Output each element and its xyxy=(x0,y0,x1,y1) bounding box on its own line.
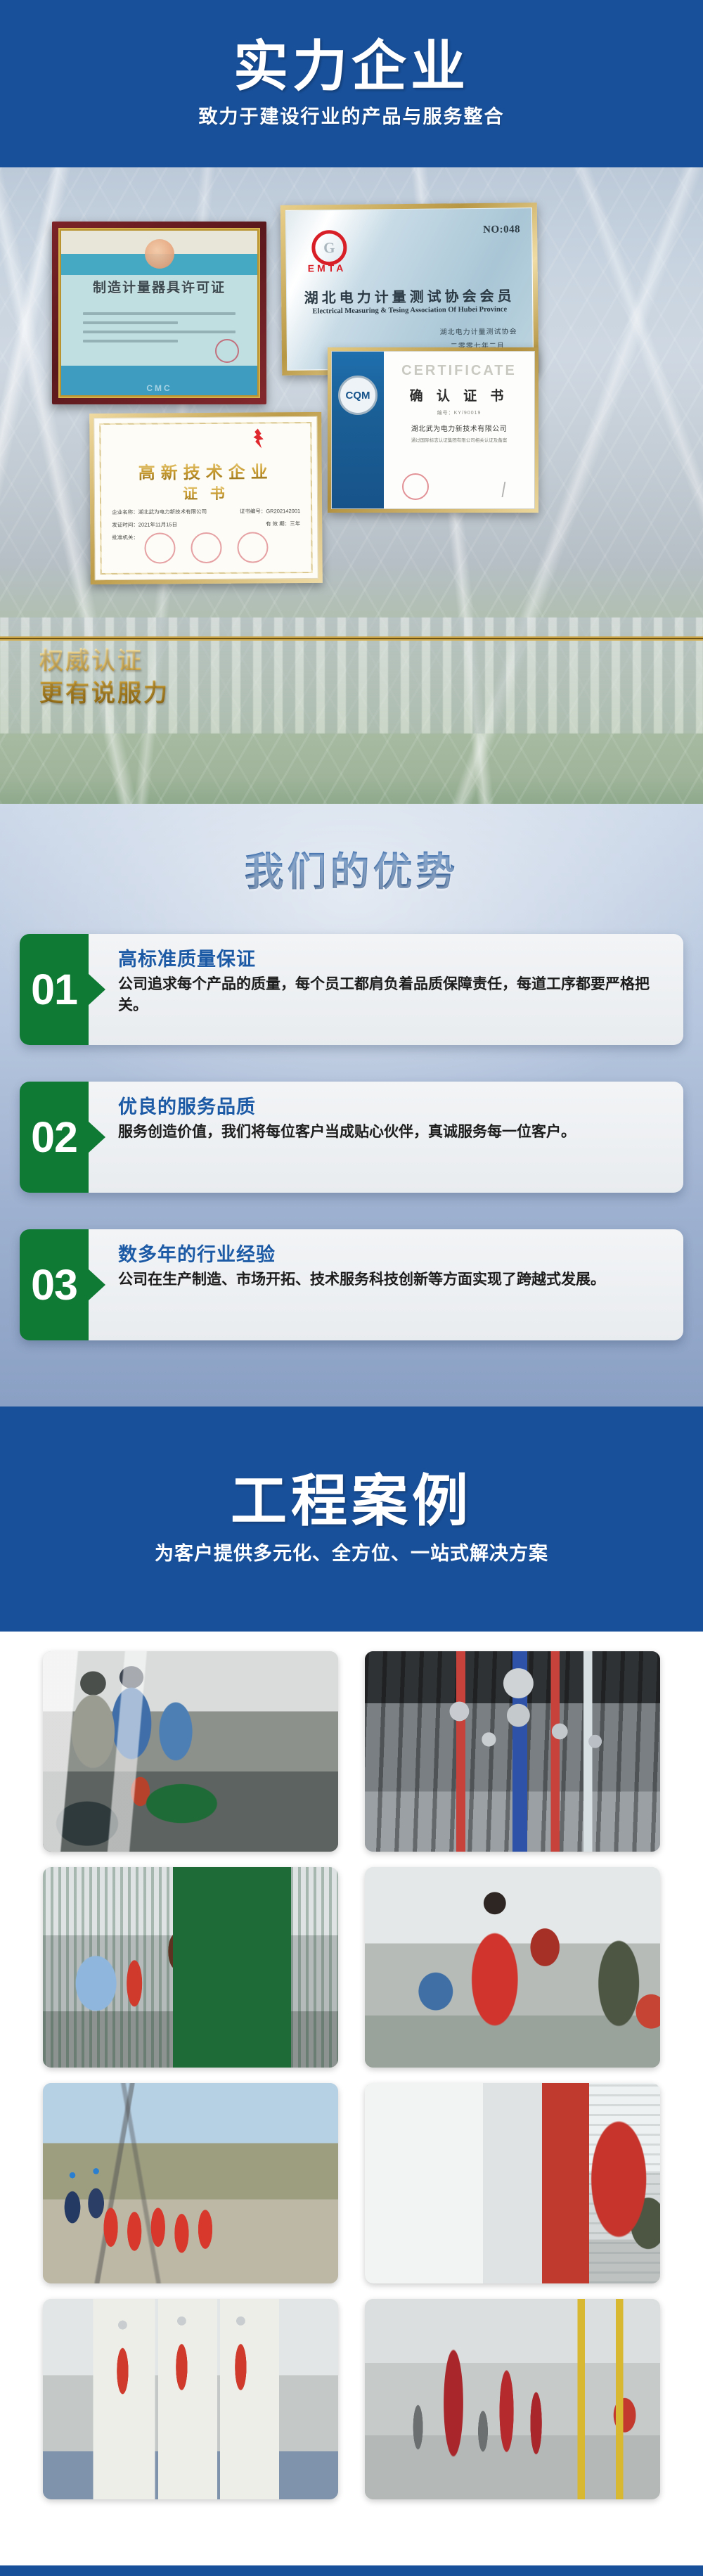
certificate-face: 制造计量器具许可证 CMC xyxy=(61,231,257,395)
photo-voltage-transformers[interactable] xyxy=(43,2299,338,2499)
photo-workshop-testing[interactable] xyxy=(43,1651,338,1852)
certificate-title-second-line: 证 书 xyxy=(95,482,317,504)
advantages-card-list: 01 高标准质量保证 公司追求每个产品的质量，每个员工都肩负着品质保障责任，每道… xyxy=(20,934,683,1377)
cases-photo-grid xyxy=(0,1632,703,2561)
certificate-body-lines xyxy=(83,306,236,349)
photo-hv-test-hall[interactable] xyxy=(365,1651,660,1852)
field-validity: 有 效 期：三年 xyxy=(266,520,300,527)
certificate-description: 通过国际标志认证集团有限公司相关认证及备案 xyxy=(391,437,527,444)
certificate-number: 编号：KY/90019 xyxy=(391,409,527,416)
advantage-card[interactable]: 01 高标准质量保证 公司追求每个产品的质量，每个员工都肩负着品质保障责任，每道… xyxy=(20,934,683,1045)
cqm-logo-icon: CQM xyxy=(338,376,378,415)
certificate-body: CERTIFICATE 确 认 证 书 编号：KY/90019 湖北武为电力新技… xyxy=(384,352,534,508)
hero-banner: 实力企业 致力于建设行业的产品与服务整合 xyxy=(0,0,703,167)
field-company-name: 企业名称：湖北武为电力新技术有限公司 xyxy=(112,508,207,516)
field-certificate-no: 证书编号：GR202142001 xyxy=(240,507,300,515)
cases-subtitle: 为客户提供多元化、全方位、一站式解决方案 xyxy=(155,1538,548,1565)
certificate-title: 制造计量器具许可证 xyxy=(93,277,226,296)
certificate-title: 高新技术企业 xyxy=(95,458,317,484)
emta-logo-icon: G xyxy=(311,230,347,266)
advantage-card-body: 数多年的行业经验 公司在生产制造、市场开拓、技术服务科技创新等方面实现了跨越式发… xyxy=(89,1229,683,1340)
red-seal-icon xyxy=(191,532,221,563)
advantage-card[interactable]: 03 数多年的行业经验 公司在生产制造、市场开拓、技术服务科技创新等方面实现了跨… xyxy=(20,1229,683,1340)
advantage-card-body: 优良的服务品质 服务创造价值，我们将每位客户当成贴心伙伴，真诚服务每一位客户。 xyxy=(89,1082,683,1193)
certificate-company: 湖北武为电力新技术有限公司 xyxy=(391,423,527,433)
overlay-line-2: 更有说服力 xyxy=(39,678,169,710)
page-title: 实力企业 xyxy=(233,39,470,95)
advantage-description: 服务创造价值，我们将每位客户当成贴心伙伴，真诚服务每一位客户。 xyxy=(118,1122,665,1143)
advantage-heading: 优良的服务品质 xyxy=(118,1091,665,1119)
certificate-issuer: 湖北电力计量测试协会 xyxy=(440,325,517,336)
advantages-title: 我们的优势 xyxy=(0,840,703,897)
certificate-seals xyxy=(95,532,317,564)
hero-subtitle: 致力于建设行业的产品与服务整合 xyxy=(199,101,505,129)
certificate-field-row: 发证时间：2021年11月15日 有 效 期：三年 xyxy=(112,520,300,529)
red-seal-icon xyxy=(215,339,239,363)
national-emblem-icon xyxy=(145,239,174,269)
advantage-heading: 高标准质量保证 xyxy=(118,944,665,971)
red-seal-icon xyxy=(144,532,175,563)
certificates-section: 制造计量器具许可证 CMC NO:048 G EMTA 湖北电力计量测试协会会员… xyxy=(0,167,703,804)
certificate-title: 湖北电力计量测试协会会员 xyxy=(287,284,532,307)
certificate-face: NO:048 G EMTA 湖北电力计量测试协会会员 Electrical Me… xyxy=(285,207,534,371)
certificate-mat: 制造计量器具许可证 CMC xyxy=(58,228,260,398)
photo-field-site-red-units[interactable] xyxy=(43,2083,338,2283)
photo-technician-red-suit[interactable] xyxy=(365,1867,660,2068)
advantage-number-badge: 01 xyxy=(20,934,89,1045)
photo-row xyxy=(0,2083,703,2283)
advantage-description: 公司在生产制造、市场开拓、技术服务科技创新等方面实现了跨越式发展。 xyxy=(118,1269,665,1290)
advantage-number-badge: 02 xyxy=(20,1082,89,1193)
field-issue-date: 发证时间：2021年11月15日 xyxy=(112,520,177,529)
cases-banner: 工程案例 为客户提供多元化、全方位、一站式解决方案 xyxy=(0,1406,703,1632)
certificate-field-row: 企业名称：湖北武为电力新技术有限公司 证书编号：GR202142001 xyxy=(112,507,300,516)
photo-switchgear-cabinet[interactable] xyxy=(365,2083,660,2283)
advantage-number-badge: 03 xyxy=(20,1229,89,1340)
red-seal-icon xyxy=(237,532,268,563)
certificate-high-tech-enterprise: 高新技术企业 证 书 企业名称：湖北武为电力新技术有限公司 证书编号：GR202… xyxy=(89,412,323,584)
cases-title: 工程案例 xyxy=(231,1473,472,1530)
signature-mark xyxy=(491,482,522,497)
certificate-face: CQM CERTIFICATE 确 认 证 书 编号：KY/90019 湖北武为… xyxy=(331,351,535,509)
photo-row xyxy=(0,1867,703,2068)
advantage-heading: 数多年的行业经验 xyxy=(118,1239,665,1267)
photo-row xyxy=(0,2299,703,2499)
certificates-overlay-text: 权威认证 更有说服力 xyxy=(39,646,169,710)
gold-divider xyxy=(0,636,703,641)
overlay-line-1: 权威认证 xyxy=(39,646,169,678)
emta-logo-label: EMTA xyxy=(308,262,347,274)
photo-red-test-reactors[interactable] xyxy=(365,2299,660,2499)
photo-green-transformer-test[interactable] xyxy=(43,1867,338,2068)
certificate-sidebar: CQM xyxy=(332,352,384,508)
bottom-divider xyxy=(0,2565,703,2576)
advantage-card[interactable]: 02 优良的服务品质 服务创造价值，我们将每位客户当成贴心伙伴，真诚服务每一位客… xyxy=(20,1082,683,1193)
certificate-face: 高新技术企业 证 书 企业名称：湖北武为电力新技术有限公司 证书编号：GR202… xyxy=(93,416,318,580)
red-seal-icon xyxy=(402,473,429,500)
certificate-number: NO:048 xyxy=(483,224,520,236)
certificate-title-english: CERTIFICATE xyxy=(391,363,527,379)
advantage-description: 公司追求每个产品的质量，每个员工都肩负着品质保障责任，每道工序都要严格把关。 xyxy=(118,974,665,1016)
certificate-manufacturing-license: 制造计量器具许可证 CMC xyxy=(52,222,266,404)
high-tech-flame-icon xyxy=(250,428,264,448)
certificate-title: 确 认 证 书 xyxy=(391,385,527,404)
product-detail-page: 实力企业 致力于建设行业的产品与服务整合 制造计量器具许可证 CMC NO:04… xyxy=(0,0,703,2576)
advantages-section: 我们的优势 01 高标准质量保证 公司追求每个产品的质量，每个员工都肩负着品质保… xyxy=(0,804,703,1406)
advantage-card-body: 高标准质量保证 公司追求每个产品的质量，每个员工都肩负着品质保障责任，每道工序都… xyxy=(89,934,683,1045)
certificate-cqm-confirmation: CQM CERTIFICATE 确 认 证 书 编号：KY/90019 湖北武为… xyxy=(328,347,538,513)
photo-row xyxy=(0,1651,703,1852)
certificate-title-english: Electrical Measuring & Tesing Associatio… xyxy=(287,305,532,316)
cmc-mark-label: CMC xyxy=(61,383,257,393)
